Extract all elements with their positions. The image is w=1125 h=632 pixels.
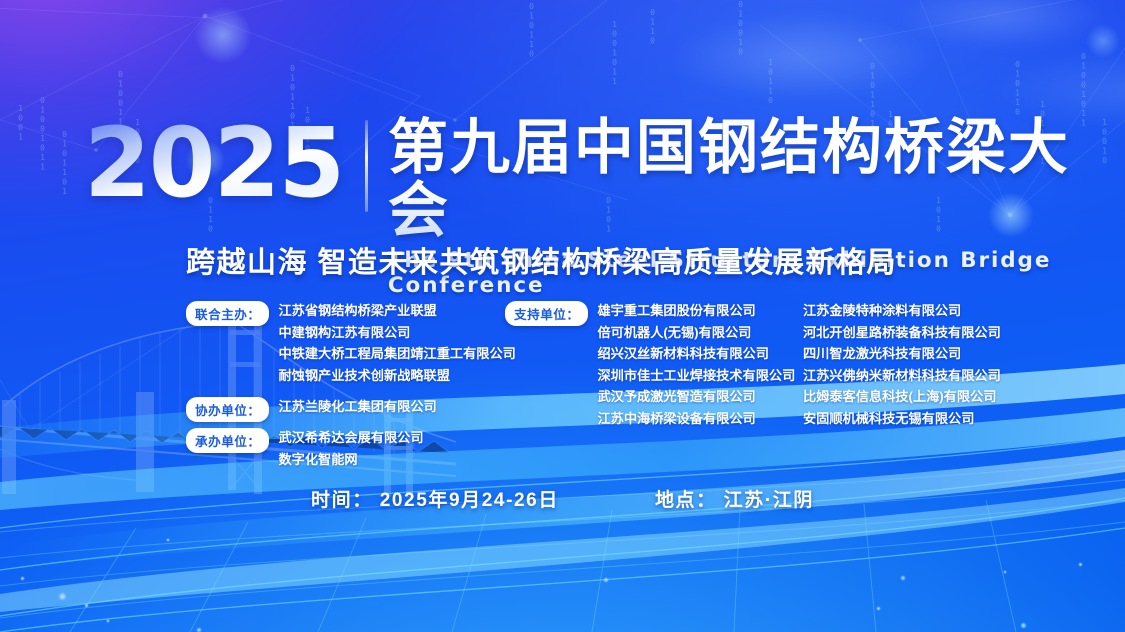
collaborator-list: 江苏兰陵化工集团有限公司 <box>278 396 436 418</box>
label-supporters: 支持单位： <box>505 301 588 326</box>
binary-code-decoration: 1001 <box>16 104 25 142</box>
sponsor-group-co-organizers: 联合主办： 江苏省钢结构桥梁产业联盟 中建钢构江苏有限公司 中铁建大桥工程局集团… <box>186 300 506 386</box>
headline-divider <box>365 120 368 212</box>
binary-code-decoration: 01001011 <box>38 96 47 172</box>
sparkle-dot <box>1003 570 1007 574</box>
supporter-list-left: 雄宇重工集团股份有限公司 倍可机器人(无锡)有限公司 绍兴汉丝新材料科技有限公司… <box>597 300 795 429</box>
tagline: 跨越山海 智造未来共筑钢结构桥梁高质量发展新格局 <box>186 239 897 281</box>
glow-node-topright <box>1086 24 1120 58</box>
list-item: 武汉予成激光智造有限公司 <box>597 386 795 408</box>
sponsor-column-left: 联合主办： 江苏省钢结构桥梁产业联盟 中建钢构江苏有限公司 中铁建大桥工程局集团… <box>186 300 506 475</box>
year-number: 2025 <box>84 116 343 210</box>
binary-code-decoration: 010110 <box>1013 60 1022 117</box>
conference-banner: 01001011 1001 0101101 010011 10100 01011… <box>0 0 1125 632</box>
binary-code-decoration: 0110 <box>648 8 657 46</box>
sparkle-dot <box>1020 622 1027 629</box>
binary-code-decoration: 0101101 <box>60 130 69 197</box>
list-item: 江苏兰陵化工集团有限公司 <box>278 396 436 418</box>
sparkle-dot <box>84 603 89 608</box>
list-item: 深圳市佳士工业焊接技术有限公司 <box>597 365 795 387</box>
event-location: 地点： 江苏·江阴 <box>655 485 814 512</box>
sponsor-group-collaborators: 协办单位： 江苏兰陵化工集团有限公司 <box>186 396 506 422</box>
list-item: 数字化智能网 <box>278 449 423 471</box>
page-title: 第九届中国钢结构桥梁大会 <box>388 116 1125 242</box>
sparkle-dot <box>876 606 881 611</box>
glow-node-left <box>194 6 252 64</box>
sparkle-dot <box>106 619 110 623</box>
sparkle-dot <box>166 538 170 542</box>
sponsor-column-middle: 支持单位： 雄宇重工集团股份有限公司 倍可机器人(无锡)有限公司 绍兴汉丝新材料… <box>505 300 805 434</box>
binary-code-decoration: 10110 <box>766 58 775 106</box>
label-co-organizers: 联合主办： <box>186 301 269 326</box>
list-item: 倍可机器人(无锡)有限公司 <box>597 322 795 344</box>
list-item: 绍兴汉丝新材料科技有限公司 <box>597 343 795 365</box>
list-item: 江苏金陵特种涂料有限公司 <box>803 300 1068 322</box>
sparkle-dot <box>1078 562 1083 567</box>
list-item: 中铁建大桥工程局集团靖江重工有限公司 <box>278 343 515 365</box>
sponsor-column-right: 江苏金陵特种涂料有限公司 河北开创星路桥装备科技有限公司 四川智龙激光科技有限公… <box>803 300 1068 429</box>
list-item: 江苏省钢结构桥梁产业联盟 <box>278 300 515 322</box>
list-item: 安固顺机械科技无锡有限公司 <box>803 408 1068 430</box>
co-organizer-list: 江苏省钢结构桥梁产业联盟 中建钢构江苏有限公司 中铁建大桥工程局集团靖江重工有限… <box>278 300 515 386</box>
binary-code-decoration: 010110 <box>527 2 536 59</box>
sparkle-dot <box>900 575 906 581</box>
binary-code-decoration: 1001011 <box>610 20 619 87</box>
label-hosts: 承办单位： <box>186 428 269 453</box>
event-date: 时间： 2025年9月24-26日 <box>311 485 559 512</box>
sparkle-dot <box>603 577 609 583</box>
list-item: 江苏兴佛纳米新材料科技有限公司 <box>803 365 1068 387</box>
list-item: 雄宇重工集团股份有限公司 <box>597 300 795 322</box>
list-item: 中建钢构江苏有限公司 <box>278 322 515 344</box>
list-item: 比姆泰客信息科技(上海)有限公司 <box>803 386 1068 408</box>
list-item: 河北开创星路桥装备科技有限公司 <box>803 322 1068 344</box>
label-collaborators: 协办单位： <box>186 397 269 422</box>
sponsor-group-supporters: 支持单位： 雄宇重工集团股份有限公司 倍可机器人(无锡)有限公司 绍兴汉丝新材料… <box>505 300 805 429</box>
event-meta-row: 时间： 2025年9月24-26日 地点： 江苏·江阴 <box>0 485 1125 512</box>
list-item: 四川智龙激光科技有限公司 <box>803 343 1068 365</box>
list-item: 江苏中海桥梁设备有限公司 <box>597 408 795 430</box>
list-item: 武汉希希达会展有限公司 <box>278 427 423 449</box>
sparkle-dot <box>196 627 202 632</box>
sparkle-dot <box>58 592 67 601</box>
list-item: 耐蚀钢产业技术创新战略联盟 <box>278 365 515 387</box>
sparkle-dot <box>20 576 25 581</box>
host-list: 武汉希希达会展有限公司 数字化智能网 <box>278 427 423 470</box>
sponsor-group-hosts: 承办单位： 武汉希希达会展有限公司 数字化智能网 <box>186 427 506 470</box>
binary-code-decoration: 010010 <box>736 0 745 57</box>
